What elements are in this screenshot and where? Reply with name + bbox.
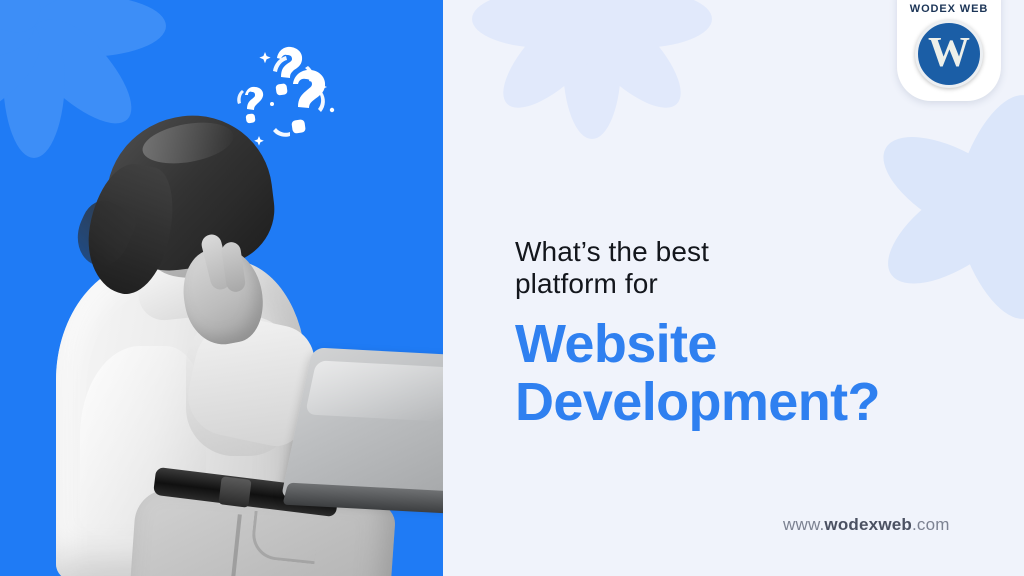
headline-block: What’s the best platform for Website Dev… [515,236,975,432]
url-suffix: .com [912,515,950,534]
belt-buckle-shape [218,476,251,507]
website-url[interactable]: www.wodexweb.com [783,515,950,535]
social-media-banner: What’s the best platform for Website Dev… [0,0,1024,576]
url-prefix: www. [783,515,824,534]
headline-emphasis-line-2: Development? [515,373,975,431]
headline-emphasis-line-1: Website [515,315,975,373]
url-domain-name: wodexweb [824,515,912,534]
brand-logo-mark-icon: W [915,20,983,88]
question-marks-icon [236,44,346,150]
brand-logo-badge[interactable]: WODEX WEB W [897,0,1001,101]
headline-kicker-line-2: platform for [515,268,975,300]
brand-logo-text: WODEX WEB [910,3,988,15]
logo-letter-w: W [928,32,970,74]
laptop-lid-highlight [305,360,455,421]
flower-decoration-icon [477,0,707,134]
headline-kicker-line-1: What’s the best [515,236,975,268]
